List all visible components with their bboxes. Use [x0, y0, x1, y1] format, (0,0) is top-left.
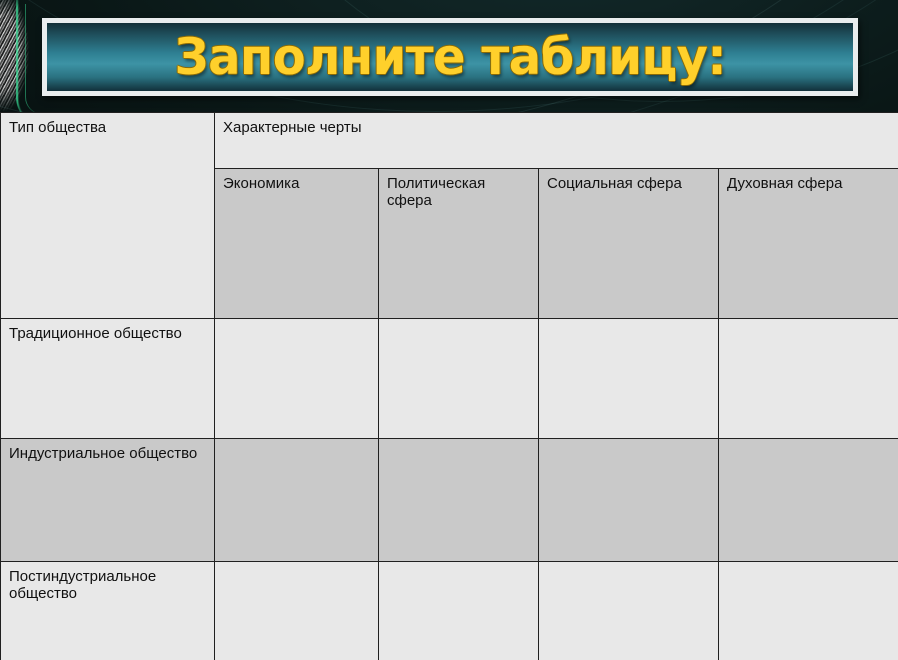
column-header-social-sphere: Социальная сфера — [539, 169, 719, 319]
presentation-slide: Заполните таблицу: Тип общества Характер… — [0, 0, 898, 660]
row-label-postindustrial-society: Постиндустриальное общество — [1, 562, 215, 660]
column-header-political-sphere: Политическая сфера — [379, 169, 539, 319]
table-cell[interactable] — [719, 439, 898, 562]
table-cell[interactable] — [215, 439, 379, 562]
green-accent-line-decoration — [25, 4, 42, 114]
table-header-group-row: Тип общества Характерные черты — [1, 113, 898, 169]
slide-title: Заполните таблицу: — [174, 32, 726, 82]
column-header-economy: Экономика — [215, 169, 379, 319]
row-label-traditional-society: Традиционное общество — [1, 319, 215, 439]
table-cell[interactable] — [379, 562, 539, 660]
table-container: Тип общества Характерные черты Экономика… — [0, 112, 898, 660]
title-banner: Заполните таблицу: — [42, 18, 858, 96]
table-cell[interactable] — [379, 319, 539, 439]
title-banner-inner: Заполните таблицу: — [47, 23, 853, 91]
table-row: Постиндустриальное общество — [1, 562, 898, 660]
header-row-title: Тип общества — [1, 113, 215, 319]
table-row: Индустриальное общество — [1, 439, 898, 562]
table-cell[interactable] — [539, 562, 719, 660]
table-cell[interactable] — [215, 562, 379, 660]
table-cell[interactable] — [719, 319, 898, 439]
row-label-industrial-society: Индустриальное общество — [1, 439, 215, 562]
column-header-spiritual-sphere: Духовная сфера — [719, 169, 898, 319]
table-cell[interactable] — [539, 319, 719, 439]
table-cell[interactable] — [379, 439, 539, 562]
table-cell[interactable] — [215, 319, 379, 439]
table-cell[interactable] — [719, 562, 898, 660]
society-types-table: Тип общества Характерные черты Экономика… — [0, 112, 898, 660]
table-cell[interactable] — [539, 439, 719, 562]
header-group-title: Характерные черты — [215, 113, 898, 169]
table-row: Традиционное общество — [1, 319, 898, 439]
